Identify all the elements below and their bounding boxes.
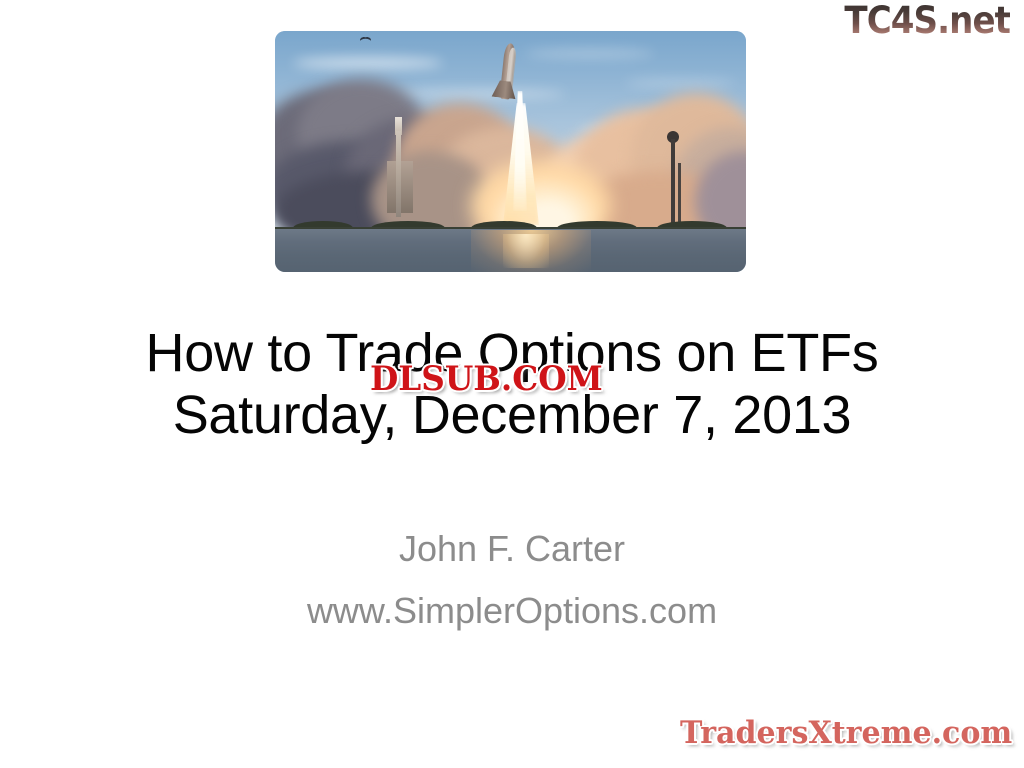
subtitle: John F. Carter www.SimplerOptions.com bbox=[0, 518, 1024, 642]
tradersxtreme-watermark: TradersXtreme.com bbox=[680, 718, 1012, 749]
presentation-slide: TC4S.net bbox=[0, 0, 1024, 768]
cloud-wisp bbox=[625, 79, 735, 87]
shuttle-wing bbox=[492, 80, 518, 99]
cloud-wisp bbox=[395, 89, 565, 99]
presenter-website: www.SimplerOptions.com bbox=[0, 580, 1024, 642]
bird-silhouette-icon bbox=[360, 37, 371, 44]
cloud-wisp bbox=[525, 49, 655, 58]
antenna-mast bbox=[678, 163, 681, 227]
water-reflection-core bbox=[503, 234, 549, 268]
cloud-wisp bbox=[293, 57, 443, 69]
antenna-mast bbox=[671, 139, 675, 227]
launch-photo-canvas bbox=[275, 31, 746, 272]
dlsub-watermark: DLSUB.COM bbox=[370, 362, 603, 396]
tc4s-watermark: TC4S.net bbox=[844, 2, 1010, 39]
space-shuttle-launch-image bbox=[275, 31, 746, 272]
launch-tower bbox=[396, 131, 401, 217]
presenter-name: John F. Carter bbox=[0, 518, 1024, 580]
